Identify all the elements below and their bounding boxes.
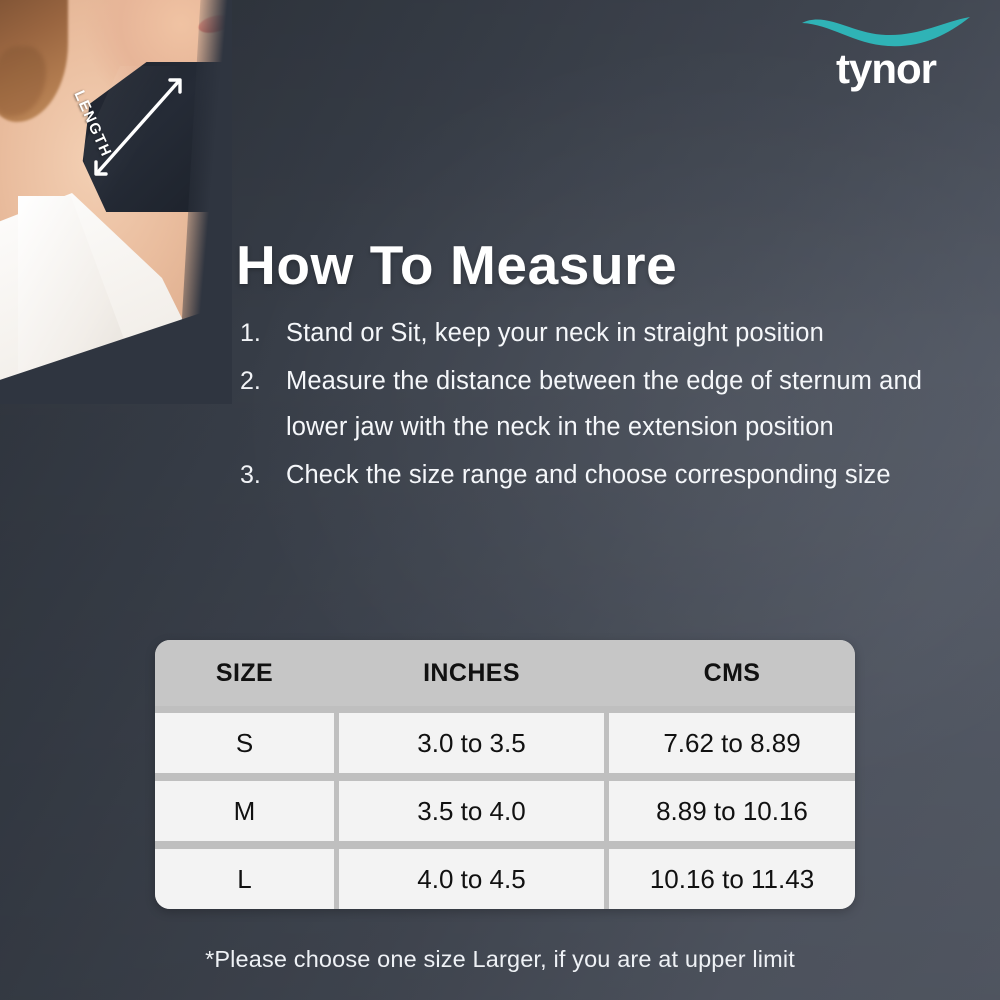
- table-row: S 3.0 to 3.5 7.62 to 8.89: [155, 706, 855, 773]
- column-header-size: SIZE: [155, 640, 334, 706]
- cell-inches: 4.0 to 4.5: [339, 849, 604, 909]
- column-header-cms: CMS: [609, 640, 855, 706]
- cell-cms: 8.89 to 10.16: [609, 781, 855, 841]
- brand-logo[interactable]: tynor: [800, 14, 972, 106]
- model-photo: LENGTH: [0, 0, 232, 404]
- list-item: 1. Stand or Sit, keep your neck in strai…: [236, 310, 984, 356]
- cell-size: S: [155, 713, 334, 773]
- cell-inches: 3.0 to 3.5: [339, 713, 604, 773]
- cell-cms: 7.62 to 8.89: [609, 713, 855, 773]
- cell-size: L: [155, 849, 334, 909]
- list-item-text: Measure the distance between the edge of…: [286, 358, 984, 450]
- list-item: 2. Measure the distance between the edge…: [236, 358, 984, 450]
- list-item-number: 3.: [236, 452, 286, 498]
- page-title: How To Measure: [236, 236, 677, 295]
- table-row: M 3.5 to 4.0 8.89 to 10.16: [155, 773, 855, 841]
- column-header-inches: INCHES: [339, 640, 604, 706]
- list-item-number: 2.: [236, 358, 286, 404]
- list-item-text: Check the size range and choose correspo…: [286, 452, 891, 498]
- footer-note: *Please choose one size Larger, if you a…: [0, 946, 1000, 973]
- cell-size: M: [155, 781, 334, 841]
- instruction-list: 1. Stand or Sit, keep your neck in strai…: [236, 310, 984, 500]
- list-item: 3. Check the size range and choose corre…: [236, 452, 984, 498]
- list-item-text: Stand or Sit, keep your neck in straight…: [286, 310, 824, 356]
- size-guide-page: LENGTH tynor How To Measure 1. Stand or …: [0, 0, 1000, 1000]
- size-chart-table: SIZE INCHES CMS S 3.0 to 3.5 7.62 to 8.8…: [155, 640, 855, 909]
- brand-wordmark: tynor: [800, 48, 972, 90]
- cell-cms: 10.16 to 11.43: [609, 849, 855, 909]
- table-header-row: SIZE INCHES CMS: [155, 640, 855, 706]
- list-item-number: 1.: [236, 310, 286, 356]
- table-row: L 4.0 to 4.5 10.16 to 11.43: [155, 841, 855, 909]
- cell-inches: 3.5 to 4.0: [339, 781, 604, 841]
